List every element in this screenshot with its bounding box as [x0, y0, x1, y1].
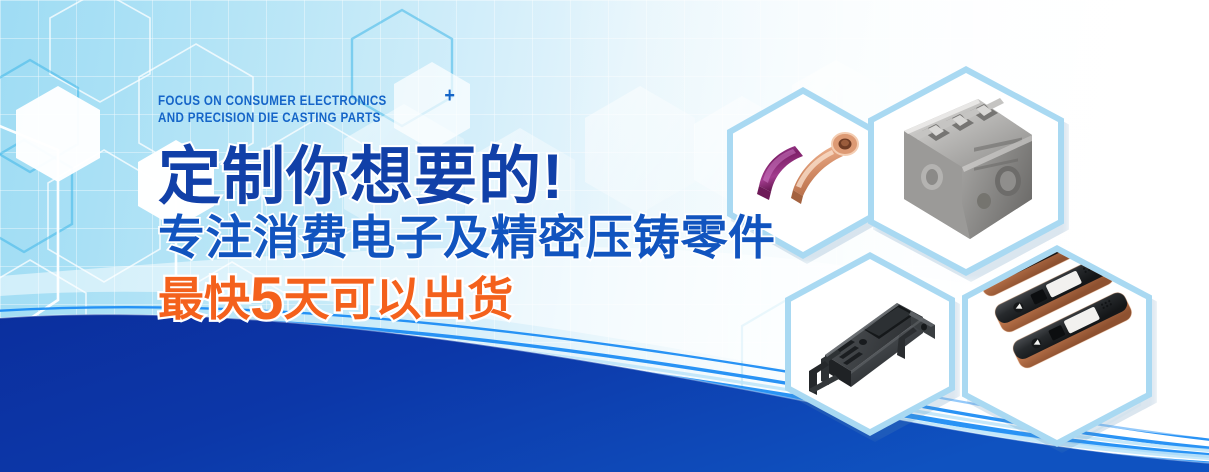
- eyebrow-line-2: AND PRECISION DIE CASTING PARTS: [158, 109, 708, 126]
- promo-prefix: 最快: [158, 273, 250, 325]
- banner-copy-block: FOCUS ON CONSUMER ELECTRONICS AND PRECIS…: [158, 92, 798, 326]
- headline-main: 定制你想要的!: [158, 144, 798, 210]
- promo-line: 最快5天可以出货: [158, 272, 798, 326]
- promotional-banner: FOCUS ON CONSUMER ELECTRONICS AND PRECIS…: [0, 0, 1209, 472]
- promo-number: 5: [250, 265, 283, 332]
- eyebrow-text: FOCUS ON CONSUMER ELECTRONICS AND PRECIS…: [158, 92, 708, 126]
- plus-icon: +: [444, 85, 455, 106]
- promo-suffix: 天可以出货: [283, 273, 513, 325]
- eyebrow-line-1: FOCUS ON CONSUMER ELECTRONICS: [158, 92, 708, 109]
- headline-sub: 专注消费电子及精密压铸零件: [158, 212, 798, 264]
